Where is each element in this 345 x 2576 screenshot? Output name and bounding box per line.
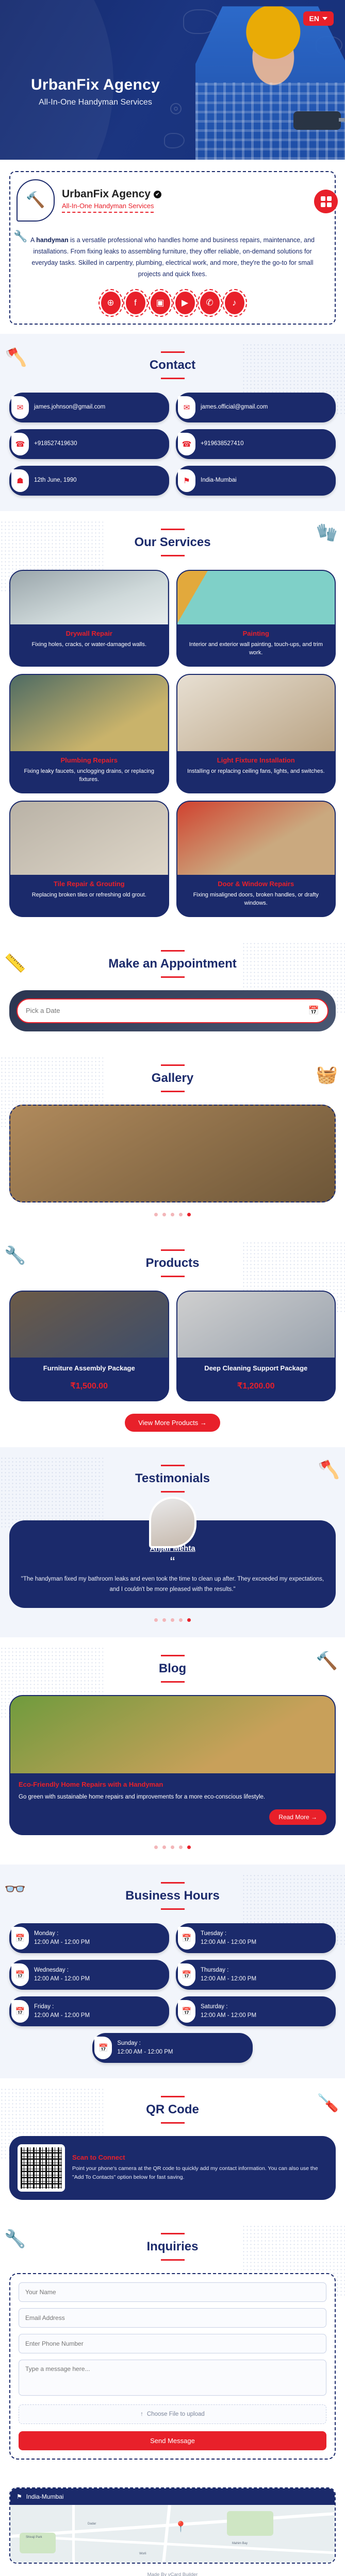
read-more-button[interactable]: Read More → bbox=[269, 1809, 326, 1825]
service-desc: Replacing broken tiles or refreshing old… bbox=[15, 891, 163, 900]
carousel-dot[interactable] bbox=[154, 1845, 158, 1849]
hours-value: 12:00 AM - 12:00 PM bbox=[34, 2012, 90, 2019]
chevron-down-icon bbox=[322, 17, 327, 20]
appointment-section: 📏 Make an Appointment Pick a Date 📅 bbox=[0, 933, 345, 1047]
hours-value: 12:00 AM - 12:00 PM bbox=[117, 2049, 173, 2055]
about-lead: A bbox=[30, 236, 36, 244]
service-desc: Interior and exterior wall painting, tou… bbox=[183, 640, 330, 657]
service-name: Plumbing Repairs bbox=[15, 756, 163, 764]
about-paragraph: A handyman is a versatile professional w… bbox=[17, 235, 328, 280]
qr-section: 🪛 QR Code Scan to Connect Point your pho… bbox=[0, 2078, 345, 2215]
date-placeholder: Pick a Date bbox=[26, 1007, 60, 1014]
phone-field[interactable] bbox=[19, 2334, 326, 2353]
service-image bbox=[10, 571, 168, 624]
drill-icon: 🔧 bbox=[4, 1245, 26, 1266]
gallery-image[interactable] bbox=[9, 1105, 336, 1202]
location-icon: ⚑ bbox=[178, 469, 195, 492]
location-icon: ⚑ bbox=[17, 2493, 22, 2500]
service-image bbox=[10, 802, 168, 875]
contact-item-birthday[interactable]: ☗12th June, 1990 bbox=[9, 466, 169, 496]
blog-card[interactable]: Eco-Friendly Home Repairs with a Handyma… bbox=[9, 1695, 336, 1835]
email-icon: ✉ bbox=[11, 396, 29, 419]
testimonials-title: Testimonials bbox=[9, 1465, 336, 1493]
drill-icon bbox=[293, 111, 341, 130]
map-pin-icon[interactable]: 📍 bbox=[174, 2520, 187, 2533]
map-header: ⚑ India-Mumbai bbox=[10, 2488, 335, 2505]
qr-icon bbox=[321, 196, 332, 207]
service-name: Drywall Repair bbox=[15, 630, 163, 637]
contact-item-phone-2[interactable]: ☎+919638527410 bbox=[176, 429, 336, 459]
hours-day: Sunday : bbox=[117, 2040, 140, 2046]
product-image bbox=[10, 1292, 168, 1358]
footer-credit: Made By vCard Builder bbox=[0, 2564, 345, 2576]
map-place-label: Dadar bbox=[88, 2522, 96, 2526]
map-canvas[interactable]: 📍 Shivaji Park Dadar Mahim Bay Worli bbox=[10, 2505, 335, 2563]
map-road bbox=[162, 2505, 171, 2563]
profile-card: 🔨 UrbanFix Agency ✔ All-In-One Handyman … bbox=[9, 171, 336, 325]
blog-carousel-dots[interactable] bbox=[9, 1845, 336, 1849]
service-card[interactable]: Light Fixture InstallationInstalling or … bbox=[176, 674, 336, 793]
inquiries-section: 🔧 Inquiries ↑ Choose File to upload Send… bbox=[0, 2215, 345, 2475]
carousel-dot[interactable] bbox=[179, 1618, 183, 1622]
map-place-label: Mahim Bay bbox=[232, 2542, 248, 2545]
email-field[interactable] bbox=[19, 2308, 326, 2328]
product-card[interactable]: Furniture Assembly Package₹1,500.00 bbox=[9, 1291, 169, 1402]
testimonials-section: 🪓 Testimonials Anjali Mehta “ "The handy… bbox=[0, 1447, 345, 1637]
carousel-dot[interactable] bbox=[162, 1213, 166, 1216]
brand-row: 🔨 UrbanFix Agency ✔ All-In-One Handyman … bbox=[17, 179, 328, 222]
contact-value: +918527419630 bbox=[34, 439, 77, 448]
product-name: Furniture Assembly Package bbox=[15, 1364, 163, 1373]
contact-title: Contact bbox=[9, 351, 336, 379]
service-name: Tile Repair & Grouting bbox=[15, 880, 163, 888]
hours-day: Tuesday : bbox=[201, 1930, 226, 1937]
carousel-dot-active[interactable] bbox=[187, 1845, 191, 1849]
hours-row: 📅Wednesday :12:00 AM - 12:00 PM bbox=[9, 1960, 169, 1990]
hours-day: Wednesday : bbox=[34, 1967, 69, 1973]
wrench-icon: 🔧 bbox=[4, 2229, 26, 2249]
gallery-carousel-dots[interactable] bbox=[9, 1213, 336, 1216]
calendar-clock-icon: 📅 bbox=[178, 1927, 195, 1950]
upload-label: Choose File to upload bbox=[147, 2411, 205, 2417]
avatar bbox=[149, 1497, 196, 1548]
appointment-card: Pick a Date 📅 bbox=[9, 990, 336, 1031]
contact-grid: ✉james.johnson@gmail.com ✉james.official… bbox=[9, 393, 336, 496]
hero-banner: UrbanFix Agency All-In-One Handyman Serv… bbox=[0, 0, 345, 160]
products-section: 🔧 Products Furniture Assembly Package₹1,… bbox=[0, 1232, 345, 1448]
gallery-title: Gallery bbox=[9, 1064, 336, 1092]
testimonial-card: Anjali Mehta “ "The handyman fixed my ba… bbox=[9, 1520, 336, 1608]
carousel-dot[interactable] bbox=[162, 1618, 166, 1622]
hours-day: Saturday : bbox=[201, 2004, 227, 2010]
upload-icon: ↑ bbox=[140, 2411, 143, 2417]
hammer-icon: 🔨 bbox=[316, 1651, 338, 1671]
contact-value: +919638527410 bbox=[201, 439, 243, 448]
contact-item-phone-1[interactable]: ☎+918527419630 bbox=[9, 429, 169, 459]
services-section: 🧤 Our Services Drywall RepairFixing hole… bbox=[0, 511, 345, 933]
saw-icon: 🪓 bbox=[5, 347, 27, 368]
verified-badge-icon: ✔ bbox=[154, 191, 161, 198]
hours-value: 12:00 AM - 12:00 PM bbox=[34, 1976, 90, 1982]
whatsapp-icon[interactable]: ✆ bbox=[200, 292, 220, 314]
tape-measure-icon: 📏 bbox=[4, 953, 26, 974]
service-name: Painting bbox=[183, 630, 330, 637]
product-card[interactable]: Deep Cleaning Support Package₹1,200.00 bbox=[176, 1291, 336, 1402]
hours-row: 📅Sunday :12:00 AM - 12:00 PM bbox=[92, 2033, 252, 2063]
hours-day: Monday : bbox=[34, 1930, 58, 1937]
hero-title: UrbanFix Agency bbox=[0, 76, 191, 94]
services-grid: Drywall RepairFixing holes, cracks, or w… bbox=[9, 570, 336, 917]
hours-row: 📅Saturday :12:00 AM - 12:00 PM bbox=[176, 1996, 336, 2026]
service-image bbox=[177, 571, 335, 624]
map-place-label: Worli bbox=[139, 2552, 146, 2555]
calendar-clock-icon: 📅 bbox=[178, 2000, 195, 2023]
qr-code-image[interactable] bbox=[18, 2144, 65, 2192]
contact-value: james.johnson@gmail.com bbox=[34, 403, 105, 411]
qr-body: Point your phone's camera at the QR code… bbox=[72, 2164, 327, 2182]
services-title: Our Services bbox=[9, 529, 336, 556]
appointment-title: Make an Appointment bbox=[9, 950, 336, 978]
hero-text-block: UrbanFix Agency All-In-One Handyman Serv… bbox=[0, 76, 191, 107]
testimonial-quote: "The handyman fixed my bathroom leaks an… bbox=[21, 1574, 324, 1595]
qr-title: QR Code bbox=[9, 2096, 336, 2124]
hero-blob-decoration bbox=[164, 133, 185, 148]
service-card[interactable]: Tile Repair & GroutingReplacing broken t… bbox=[9, 801, 169, 917]
map-road bbox=[72, 2505, 75, 2563]
paint-bucket-icon: 🧺 bbox=[316, 1064, 338, 1085]
product-name: Deep Cleaning Support Package bbox=[183, 1364, 330, 1373]
product-price: ₹1,200.00 bbox=[183, 1381, 330, 1391]
calendar-clock-icon: 📅 bbox=[11, 1927, 29, 1950]
product-image bbox=[177, 1292, 335, 1358]
service-card[interactable]: Door & Window RepairsFixing misaligned d… bbox=[176, 801, 336, 917]
inquiries-title: Inquiries bbox=[9, 2233, 336, 2261]
contact-item-email-2[interactable]: ✉james.official@gmail.com bbox=[176, 393, 336, 422]
screwdriver-icon: 🪛 bbox=[317, 2093, 339, 2113]
handsaw-icon: 🪓 bbox=[318, 1460, 340, 1480]
profile-section: 🔨 UrbanFix Agency ✔ All-In-One Handyman … bbox=[0, 160, 345, 334]
blog-section: 🔨 Blog Eco-Friendly Home Repairs with a … bbox=[0, 1637, 345, 1864]
social-links: ⊕ f ▣ ▶ ✆ ♪ bbox=[17, 292, 328, 314]
qr-heading: Scan to Connect bbox=[72, 2154, 327, 2161]
blog-title: Blog bbox=[9, 1655, 336, 1683]
youtube-icon[interactable]: ▶ bbox=[175, 292, 195, 314]
pliers-icon: 🔧 bbox=[13, 230, 27, 243]
hours-value: 12:00 AM - 12:00 PM bbox=[34, 1939, 90, 1945]
service-image bbox=[177, 802, 335, 875]
inquiry-form: ↑ Choose File to upload Send Message bbox=[9, 2273, 336, 2460]
blog-image bbox=[10, 1696, 335, 1773]
map-road bbox=[10, 2534, 334, 2554]
hours-row: 📅Friday :12:00 AM - 12:00 PM bbox=[9, 1996, 169, 2026]
carousel-dot[interactable] bbox=[179, 1845, 183, 1849]
map-label: India-Mumbai bbox=[26, 2493, 64, 2500]
brand-text: UrbanFix Agency ✔ All-In-One Handyman Se… bbox=[62, 188, 161, 213]
hours-row: 📅Thursday :12:00 AM - 12:00 PM bbox=[176, 1960, 336, 1990]
business-hours-title: Business Hours bbox=[9, 1882, 336, 1910]
name-field[interactable] bbox=[19, 2282, 326, 2302]
carousel-dot[interactable] bbox=[171, 1845, 174, 1849]
email-icon: ✉ bbox=[178, 396, 195, 419]
service-name: Door & Window Repairs bbox=[183, 880, 330, 888]
service-desc: Fixing holes, cracks, or water-damaged w… bbox=[15, 640, 163, 649]
service-desc: Fixing misaligned doors, broken handles,… bbox=[183, 891, 330, 908]
language-label: EN bbox=[309, 14, 319, 23]
carousel-dot[interactable] bbox=[154, 1618, 158, 1622]
hero-subtitle: All-In-One Handyman Services bbox=[0, 98, 191, 107]
cake-icon: ☗ bbox=[11, 469, 29, 492]
map-section[interactable]: ⚑ India-Mumbai 📍 Shivaji Park Dadar Mahi… bbox=[9, 2487, 336, 2564]
send-message-button[interactable]: Send Message bbox=[19, 2431, 326, 2450]
business-tagline: All-In-One Handyman Services bbox=[62, 202, 154, 213]
contact-item-email-1[interactable]: ✉james.johnson@gmail.com bbox=[9, 393, 169, 422]
calendar-clock-icon: 📅 bbox=[178, 1963, 195, 1986]
hours-row: 📅Monday :12:00 AM - 12:00 PM bbox=[9, 1923, 169, 1953]
carousel-dot[interactable] bbox=[171, 1213, 174, 1216]
quote-icon: “ bbox=[21, 1555, 324, 1569]
products-title: Products bbox=[9, 1249, 336, 1277]
service-image bbox=[10, 675, 168, 751]
blog-post-title: Eco-Friendly Home Repairs with a Handyma… bbox=[19, 1781, 326, 1788]
calendar-icon[interactable]: 📅 bbox=[308, 1006, 319, 1016]
map-place-label: Shivaji Park bbox=[26, 2536, 42, 2539]
hammer-wrench-icon: 🔨 bbox=[26, 193, 45, 208]
phone-icon: ☎ bbox=[11, 433, 29, 455]
file-upload-field[interactable]: ↑ Choose File to upload bbox=[19, 2404, 326, 2424]
facebook-icon[interactable]: f bbox=[126, 292, 145, 314]
products-grid: Furniture Assembly Package₹1,500.00 Deep… bbox=[9, 1291, 336, 1402]
business-name-row: UrbanFix Agency ✔ bbox=[62, 188, 161, 200]
instagram-icon[interactable]: ▣ bbox=[151, 292, 170, 314]
hours-row: 📅Tuesday :12:00 AM - 12:00 PM bbox=[176, 1923, 336, 1953]
hours-value: 12:00 AM - 12:00 PM bbox=[201, 2012, 256, 2019]
carousel-dot[interactable] bbox=[154, 1213, 158, 1216]
service-card[interactable]: Drywall RepairFixing holes, cracks, or w… bbox=[9, 570, 169, 667]
date-picker[interactable]: Pick a Date 📅 bbox=[17, 998, 328, 1023]
map-road bbox=[11, 2512, 335, 2538]
hours-value: 12:00 AM - 12:00 PM bbox=[201, 1939, 256, 1945]
calendar-clock-icon: 📅 bbox=[94, 2037, 112, 2059]
language-selector-button[interactable]: EN bbox=[303, 11, 334, 26]
about-bold: handyman bbox=[36, 236, 69, 244]
business-hours-section: 👓 Business Hours 📅Monday :12:00 AM - 12:… bbox=[0, 1865, 345, 2078]
qr-shortcut-button[interactable] bbox=[314, 190, 338, 213]
hours-value: 12:00 AM - 12:00 PM bbox=[201, 1976, 256, 1982]
blog-post-excerpt: Go green with sustainable home repairs a… bbox=[19, 1792, 326, 1802]
company-logo: 🔨 bbox=[17, 179, 55, 222]
service-image bbox=[177, 675, 335, 751]
service-card[interactable]: Plumbing RepairsFixing leaky faucets, un… bbox=[9, 674, 169, 793]
view-more-products-button[interactable]: View More Products → bbox=[125, 1414, 220, 1432]
about-rest: is a versatile professional who handles … bbox=[31, 236, 315, 278]
calendar-clock-icon: 📅 bbox=[11, 2000, 29, 2023]
product-price: ₹1,500.00 bbox=[15, 1381, 163, 1391]
carousel-dot[interactable] bbox=[179, 1213, 183, 1216]
business-hours-grid: 📅Monday :12:00 AM - 12:00 PM 📅Tuesday :1… bbox=[9, 1923, 336, 2063]
qr-card: Scan to Connect Point your phone's camer… bbox=[9, 2136, 336, 2200]
phone-icon: ☎ bbox=[178, 433, 195, 455]
service-card[interactable]: PaintingInterior and exterior wall paint… bbox=[176, 570, 336, 667]
carousel-dot-active[interactable] bbox=[187, 1213, 191, 1216]
service-name: Light Fixture Installation bbox=[183, 756, 330, 764]
map-park bbox=[227, 2511, 273, 2536]
calendar-clock-icon: 📅 bbox=[11, 1963, 29, 1986]
tiktok-icon[interactable]: ♪ bbox=[225, 292, 244, 314]
qr-pixels bbox=[21, 2147, 62, 2189]
contact-value: james.official@gmail.com bbox=[201, 403, 268, 411]
contact-item-location[interactable]: ⚑India-Mumbai bbox=[176, 466, 336, 496]
hours-day: Thursday : bbox=[201, 1967, 228, 1973]
gallery-section: 🧺 Gallery bbox=[0, 1047, 345, 1232]
service-desc: Fixing leaky faucets, unclogging drains,… bbox=[15, 767, 163, 784]
carousel-dot-active[interactable] bbox=[187, 1618, 191, 1622]
message-field[interactable] bbox=[19, 2360, 326, 2396]
website-icon[interactable]: ⊕ bbox=[101, 292, 121, 314]
service-desc: Installing or replacing ceiling fans, li… bbox=[183, 767, 330, 776]
contact-section: 🪓 Contact ✉james.johnson@gmail.com ✉jame… bbox=[0, 334, 345, 511]
business-name: UrbanFix Agency bbox=[62, 188, 151, 200]
gloves-icon: 🧤 bbox=[316, 522, 338, 543]
hours-day: Friday : bbox=[34, 2004, 54, 2010]
carousel-dot[interactable] bbox=[162, 1845, 166, 1849]
safety-glasses-icon: 👓 bbox=[4, 1879, 26, 1900]
contact-value: India-Mumbai bbox=[201, 476, 237, 484]
digital-business-card-page: UrbanFix Agency All-In-One Handyman Serv… bbox=[0, 0, 345, 2576]
carousel-dot[interactable] bbox=[171, 1618, 174, 1622]
contact-value: 12th June, 1990 bbox=[34, 476, 77, 484]
qr-text-block: Scan to Connect Point your phone's camer… bbox=[72, 2154, 327, 2182]
testimonial-carousel-dots[interactable] bbox=[9, 1618, 336, 1622]
